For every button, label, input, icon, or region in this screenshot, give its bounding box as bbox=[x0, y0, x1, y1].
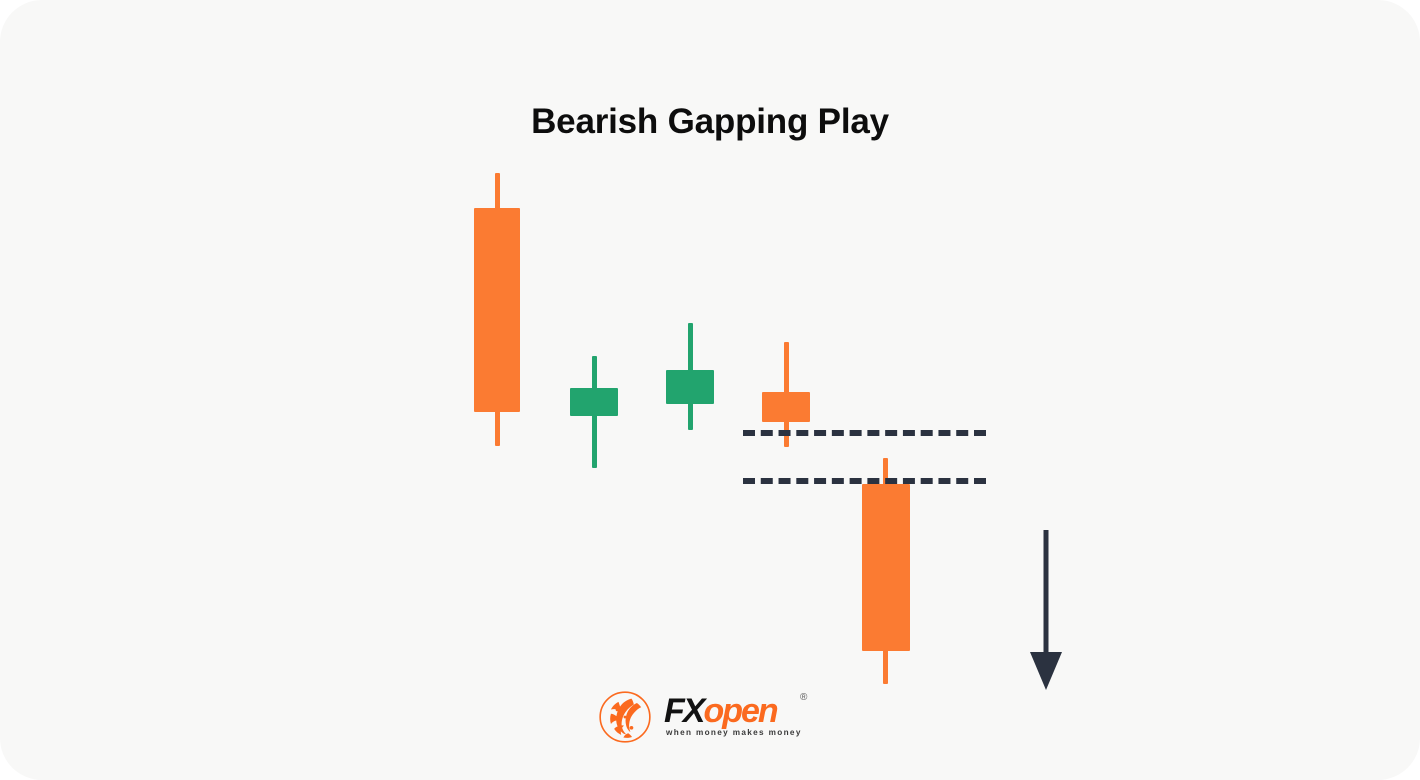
fxopen-logo: FXopen ® when money makes money bbox=[598, 688, 664, 746]
logo-tagline: when money makes money bbox=[666, 728, 802, 737]
gap-line-lower bbox=[743, 478, 986, 484]
candlestick-1-body bbox=[474, 208, 520, 412]
candlestick-2-body bbox=[570, 388, 618, 416]
fxopen-wordmark-text: FXopen bbox=[664, 694, 777, 728]
candlestick-5-body bbox=[862, 484, 910, 651]
candlestick-4-body bbox=[762, 392, 810, 422]
fxopen-tiger-emblem bbox=[598, 690, 652, 744]
registered-trademark-mark: ® bbox=[800, 692, 807, 703]
downtrend-arrow bbox=[1026, 524, 1066, 696]
candlestick-3-body bbox=[666, 370, 714, 404]
gap-line-upper bbox=[743, 430, 986, 436]
page-title: Bearish Gapping Play bbox=[0, 102, 1420, 142]
screenshot-root: Bearish Gapping Play bbox=[0, 0, 1420, 780]
logo-open-text: open bbox=[703, 692, 776, 730]
logo-fx-text: FX bbox=[664, 692, 703, 730]
illustration-card: Bearish Gapping Play bbox=[0, 0, 1420, 780]
